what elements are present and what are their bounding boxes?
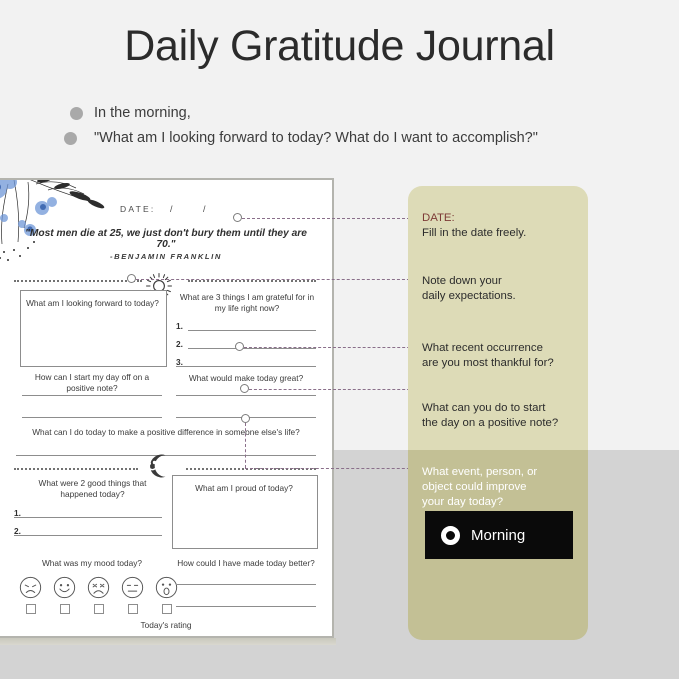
bullet-dot-icon	[70, 107, 83, 120]
bullet-dot-icon	[64, 132, 77, 145]
mood-checkbox[interactable]	[26, 604, 36, 614]
annotation-expectations-line1: Note down your	[422, 274, 516, 289]
bullet-item-morning: In the morning,	[70, 105, 630, 121]
happy-face-icon[interactable]	[53, 576, 76, 599]
date-label: DATE:	[120, 204, 155, 214]
better-line-1[interactable]	[176, 584, 316, 585]
neutral-face-icon[interactable]	[121, 576, 144, 599]
bullet-label: "What am I looking forward to today? Wha…	[94, 130, 538, 146]
prompt-mood: What was my mood today?	[18, 558, 166, 569]
bullet-item-question: "What am I looking forward to today? Wha…	[64, 130, 630, 146]
annotation-positive-note-line2: the day on a positive note?	[422, 416, 558, 431]
date-input-slashes[interactable]: / /	[170, 204, 220, 214]
journal-quote: "Most men die at 25, we just don't bury …	[16, 228, 316, 250]
journal-sheet-shadow	[0, 638, 336, 645]
prompt-better: How could I have made today better?	[172, 558, 320, 569]
ring-icon	[441, 526, 460, 545]
today-great-line-1[interactable]	[176, 395, 316, 396]
grateful-line-1[interactable]	[188, 330, 316, 331]
header-bullet-list: In the morning, "What am I looking forwa…	[70, 105, 630, 155]
mood-checkbox[interactable]	[162, 604, 172, 614]
positive-note-line-2[interactable]	[22, 417, 162, 418]
prompt-proud: What am I proud of today?	[176, 483, 312, 494]
grateful-line-2[interactable]	[188, 348, 316, 349]
good-things-line-2[interactable]	[14, 535, 162, 536]
positive-note-line-1[interactable]	[22, 395, 162, 396]
annotation-positive-note-line1: What can you do to start	[422, 401, 558, 416]
mood-checkbox[interactable]	[94, 604, 104, 614]
prompt-good-things: What were 2 good things that happened to…	[20, 478, 165, 500]
prompt-positive-note: How can I start my day off on a positive…	[22, 372, 162, 394]
annotation-positive-note: What can you do to start the day on a po…	[422, 401, 558, 431]
divider-left	[14, 280, 142, 283]
annotation-thankful-line1: What recent occurrence	[422, 341, 554, 356]
screenshot-root: Daily Gratitude Journal In the morning, …	[0, 0, 679, 679]
mood-checkbox[interactable]	[128, 604, 138, 614]
crying-face-icon[interactable]	[87, 576, 110, 599]
prompt-difference: What can I do today to make a positive d…	[16, 427, 316, 438]
annotation-improve-day: What event, person, or object could impr…	[422, 465, 537, 510]
moon-icon	[143, 452, 173, 480]
grateful-line-3[interactable]	[176, 366, 316, 367]
morning-button[interactable]: Morning	[425, 511, 573, 559]
surprised-face-icon[interactable]	[155, 576, 178, 599]
good-things-line-1[interactable]	[14, 517, 162, 518]
annotation-thankful: What recent occurrence are you most than…	[422, 341, 554, 371]
annotation-date-heading: DATE:	[422, 211, 526, 226]
prompt-today-great: What would make today great?	[176, 373, 316, 384]
morning-button-label: Morning	[471, 527, 525, 544]
grateful-item-number: 1.	[176, 321, 183, 331]
rating-label: Today's rating	[16, 620, 316, 631]
mood-checkbox[interactable]	[60, 604, 70, 614]
annotation-thankful-line2: are you most thankful for?	[422, 356, 554, 371]
annotation-improve-day-line2: object could improve	[422, 480, 537, 495]
journal-quote-author: -BENJAMIN FRANKLIN	[16, 252, 316, 261]
grateful-item-number: 2.	[176, 339, 183, 349]
journal-page[interactable]: DATE: / / "Most men die at 25, we just d…	[0, 178, 334, 638]
bullet-label: In the morning,	[94, 105, 191, 121]
annotation-date: DATE: Fill in the date freely.	[422, 211, 526, 241]
prompt-grateful: What are 3 things I am grateful for in m…	[176, 292, 318, 314]
annotation-improve-day-line3: your day today?	[422, 495, 537, 510]
annotation-expectations: Note down your daily expectations.	[422, 274, 516, 304]
annotation-improve-day-line1: What event, person, or	[422, 465, 537, 480]
prompt-looking-forward: What am I looking forward to today?	[26, 298, 159, 309]
sad-face-icon[interactable]	[19, 576, 42, 599]
page-title: Daily Gratitude Journal	[0, 22, 679, 71]
divider-right	[188, 280, 316, 283]
annotation-panel: DATE: Fill in the date freely. Note down…	[408, 186, 588, 640]
better-line-2[interactable]	[176, 606, 316, 607]
annotation-expectations-line2: daily expectations.	[422, 289, 516, 304]
annotation-date-text: Fill in the date freely.	[422, 226, 526, 241]
divider-left-2	[14, 468, 138, 471]
